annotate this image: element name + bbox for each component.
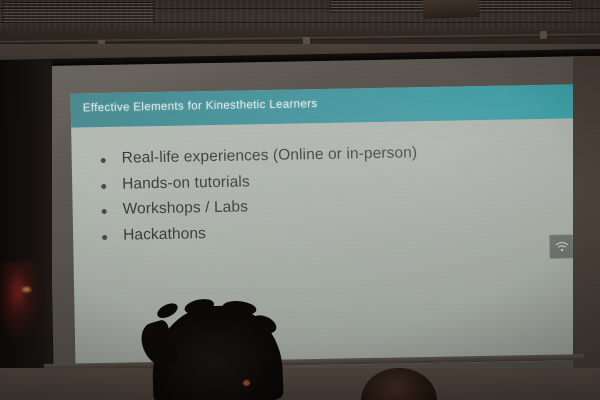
bullet-text: Workshops / Labs — [122, 199, 248, 218]
projector-screen: Effective Elements for Kinesthetic Learn… — [48, 56, 590, 378]
ceiling-vent — [2, 2, 154, 24]
bullet-text: Hackathons — [123, 225, 206, 244]
bullet-text: Hands-on tutorials — [122, 173, 250, 192]
bullet-dot-icon — [102, 209, 107, 214]
left-dark-area — [0, 60, 52, 400]
bullet-dot-icon — [101, 184, 106, 189]
bullet-dot-icon — [102, 235, 107, 240]
photo-scene: Effective Elements for Kinesthetic Learn… — [0, 0, 600, 400]
right-wall — [573, 56, 600, 400]
list-item: Hackathons — [99, 220, 549, 245]
list-item: Hands-on tutorials — [98, 169, 548, 194]
ambient-red-glow — [0, 262, 40, 348]
ceiling-light-fixture — [423, 0, 480, 19]
ambient-light-speck — [22, 287, 31, 292]
bullet-text: Real-life experiences (Online or in-pers… — [122, 144, 418, 166]
rail-clip — [540, 31, 547, 39]
bullet-dot-icon — [101, 158, 106, 163]
list-item: Real-life experiences (Online or in-pers… — [98, 143, 548, 168]
list-item: Workshops / Labs — [99, 194, 549, 219]
lower-wall — [0, 368, 600, 400]
wifi-icon — [549, 234, 573, 258]
skin-highlight — [243, 380, 250, 386]
slide-bullet-list: Real-life experiences (Online or in-pers… — [98, 143, 550, 254]
